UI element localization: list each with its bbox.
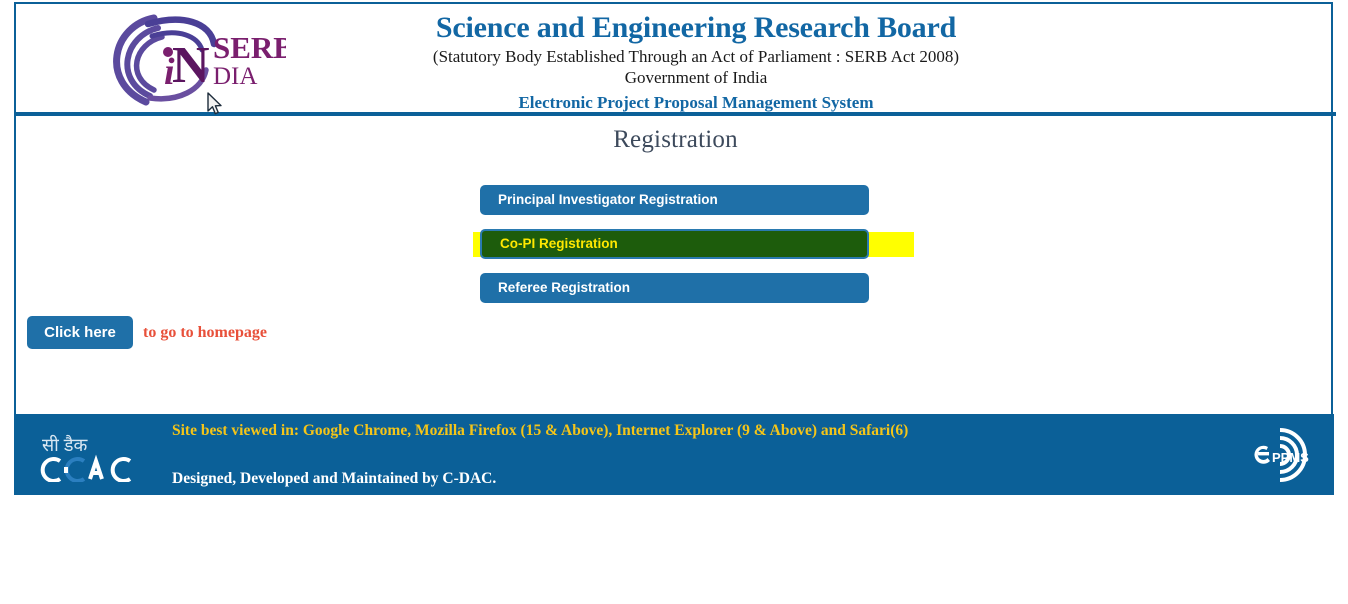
co-pi-registration-button[interactable]: Co-PI Registration	[480, 229, 869, 259]
principal-investigator-registration-button[interactable]: Principal Investigator Registration	[480, 185, 869, 215]
referee-registration-button[interactable]: Referee Registration	[480, 273, 869, 303]
org-government: Government of India	[296, 67, 1096, 88]
site-footer: सी डैक Site best viewed in: Google Chrom…	[14, 414, 1334, 495]
svg-text:SERB: SERB	[213, 30, 286, 65]
eppms-logo: PPMS	[1240, 422, 1336, 488]
svg-text:DIA: DIA	[213, 63, 257, 90]
site-header: i N SERB DIA Science and Engineering Res…	[14, 2, 1333, 112]
homepage-note-text: to go to homepage	[143, 324, 267, 342]
org-subtitle: (Statutory Body Established Through an A…	[296, 46, 1096, 67]
footer-browser-support: Site best viewed in: Google Chrome, Mozi…	[172, 422, 908, 440]
page-title: Registration	[16, 126, 1335, 154]
content-panel: Registration Principal Investigator Regi…	[14, 116, 1333, 414]
page-frame: i N SERB DIA Science and Engineering Res…	[14, 2, 1333, 495]
click-here-button[interactable]: Click here	[27, 316, 133, 349]
svg-text:PPMS: PPMS	[1272, 450, 1309, 465]
homepage-row: Click here to go to homepage	[27, 316, 267, 349]
header-title-block: Science and Engineering Research Board (…	[296, 10, 1096, 115]
svg-text:N: N	[172, 37, 210, 94]
org-title: Science and Engineering Research Board	[296, 10, 1096, 46]
footer-credit: Designed, Developed and Maintained by C-…	[172, 470, 496, 488]
cdac-logo: सी डैक	[40, 430, 134, 482]
svg-text:सी डैक: सी डैक	[42, 434, 88, 455]
serb-india-logo: i N SERB DIA	[86, 6, 286, 110]
